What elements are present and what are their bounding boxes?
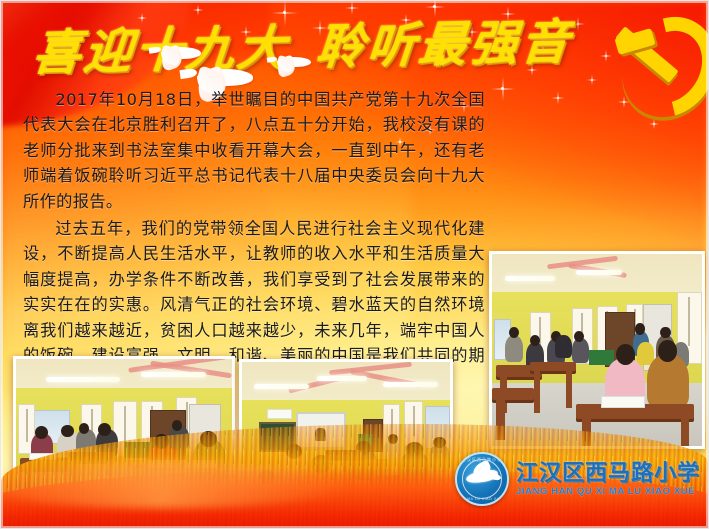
article-body: 2017年10月18日，举世瞩目的中国共产党第十九次全国代表大会在北京胜利召开了…	[23, 87, 485, 396]
badge-bottom-text: XI MA LU XIAO XUE	[461, 497, 502, 501]
poster-title-text: 喜迎十九大聆听最强音	[30, 14, 556, 85]
school-logo: 江汉区西马路小学 XI MA LU XIAO XUE 江汉区西马路小学 JIAN…	[455, 452, 700, 506]
school-badge-icon: 江汉区西马路小学 XI MA LU XIAO XUE	[455, 452, 509, 506]
communist-party-emblem-icon	[598, 9, 702, 113]
title-part-2: 聆听最强音	[314, 16, 574, 74]
poster-canvas: 喜迎十九大聆听最强音 2017年10月18日，举世瞩目的中国共产党第十九次全国代…	[0, 0, 709, 529]
title-spacer	[287, 64, 315, 65]
photo-classroom-right	[489, 251, 705, 449]
poster-title: 喜迎十九大聆听最强音	[33, 19, 553, 81]
school-name-block: 江汉区西马路小学 JIANG HAN QU XI MA LU XIAO XUE	[516, 462, 700, 497]
school-name-pinyin: JIANG HAN QU XI MA LU XIAO XUE	[516, 487, 700, 497]
title-part-1: 喜迎十九大	[30, 22, 290, 80]
article-paragraph-1: 2017年10月18日，举世瞩目的中国共产党第十九次全国代表大会在北京胜利召开了…	[23, 87, 485, 214]
school-name-chinese: 江汉区西马路小学	[516, 462, 700, 484]
